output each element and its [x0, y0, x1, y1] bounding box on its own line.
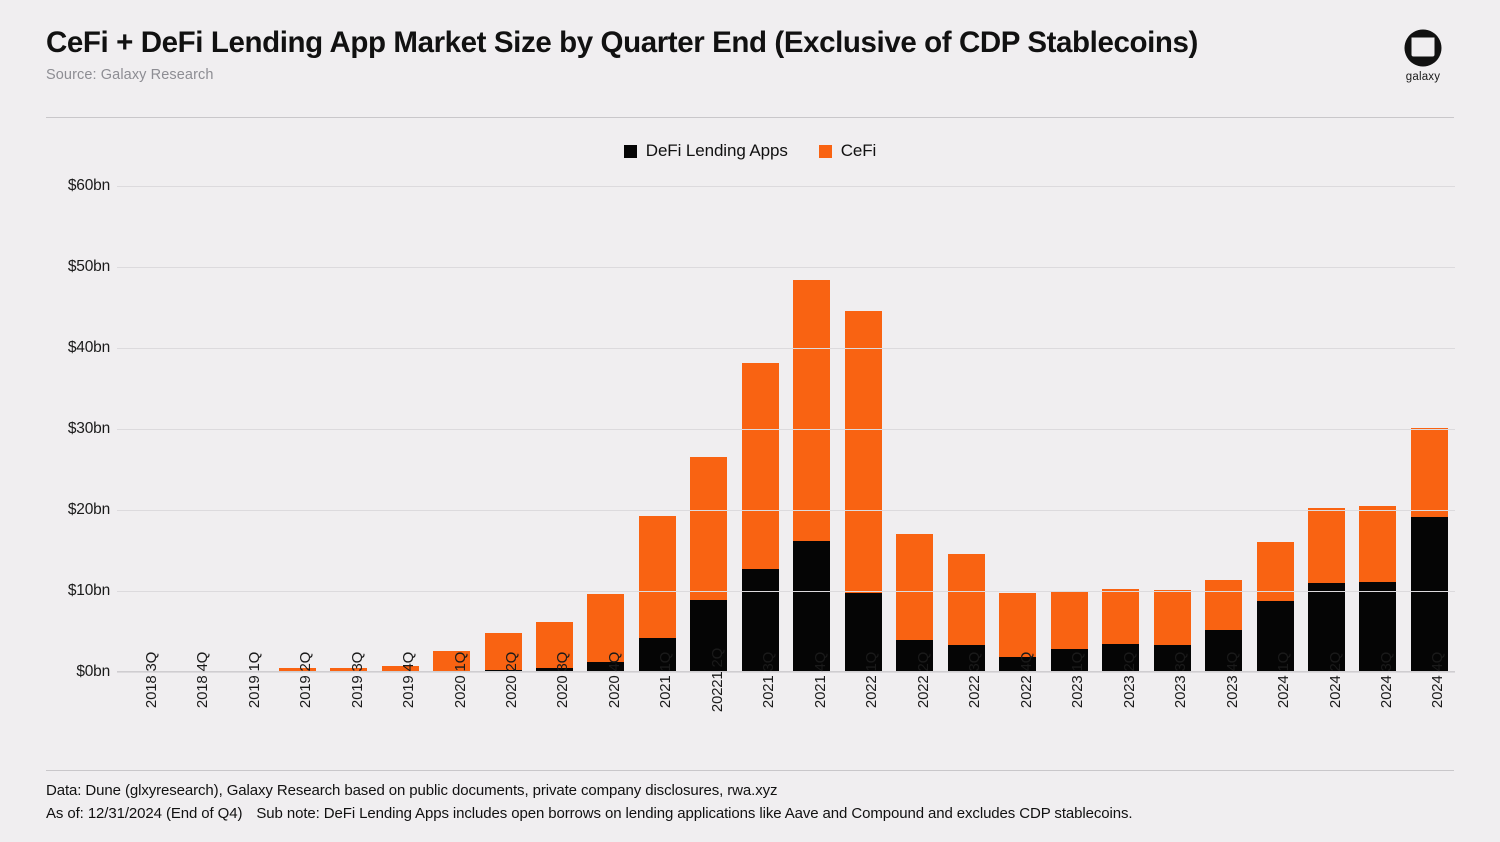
- x-tick-slot: 2023 4Q: [1198, 678, 1249, 766]
- bar-segment-cefi[interactable]: [1154, 590, 1191, 645]
- galaxy-logo-icon: [1403, 28, 1443, 68]
- stacked-bar[interactable]: [845, 311, 882, 672]
- legend-swatch-defi-icon: [624, 145, 637, 158]
- footnote-line-2: As of: 12/31/2024 (End of Q4)Sub note: D…: [46, 803, 1454, 826]
- y-axis: $0bn$10bn$20bn$30bn$40bn$50bn$60bn: [40, 186, 110, 672]
- x-tick-label: 2023 4Q: [1224, 652, 1241, 708]
- y-tick-label: $50bn: [68, 258, 110, 276]
- bar-segment-cefi[interactable]: [1359, 506, 1396, 582]
- axis-baseline: [117, 671, 1455, 672]
- x-axis: 2018 3Q2018 4Q2019 1Q2019 2Q2019 3Q2019 …: [117, 678, 1455, 766]
- x-tick-slot: 2024 1Q: [1249, 678, 1300, 766]
- gridline: [117, 186, 1455, 187]
- x-tick-label: 2018 3Q: [143, 652, 160, 708]
- bar-segment-cefi[interactable]: [1411, 428, 1448, 517]
- footnote-subnote: Sub note: DeFi Lending Apps includes ope…: [256, 805, 1132, 822]
- x-tick-slot: 2022 1Q: [838, 678, 889, 766]
- x-tick-label: 2019 1Q: [246, 652, 263, 708]
- x-tick-slot: 2019 4Q: [374, 678, 425, 766]
- x-tick-slot: 2022 2Q: [889, 678, 940, 766]
- chart-footnotes: Data: Dune (glxyresearch), Galaxy Resear…: [46, 780, 1454, 825]
- plot-area: [117, 186, 1455, 672]
- x-tick-label: 2022 2Q: [915, 652, 932, 708]
- x-tick-label: 2024 4Q: [1429, 652, 1446, 708]
- chart-header: CeFi + DeFi Lending App Market Size by Q…: [46, 26, 1454, 83]
- x-tick-label: 2023 2Q: [1121, 652, 1138, 708]
- footnote-line-1: Data: Dune (glxyresearch), Galaxy Resear…: [46, 780, 1454, 803]
- stacked-bar[interactable]: [742, 363, 779, 672]
- x-tick-slot: 2019 2Q: [271, 678, 322, 766]
- x-tick-label: 2021 3Q: [760, 652, 777, 708]
- stacked-bar[interactable]: [1308, 508, 1345, 672]
- gridline: [117, 672, 1455, 673]
- gridline: [117, 591, 1455, 592]
- source-caption: Source: Galaxy Research: [46, 67, 1454, 83]
- x-tick-slot: 2023 3Q: [1146, 678, 1197, 766]
- footer-divider: [46, 770, 1454, 771]
- x-tick-label: 2024 3Q: [1378, 652, 1395, 708]
- bar-segment-cefi[interactable]: [999, 593, 1036, 656]
- x-tick-slot: 2021 1Q: [632, 678, 683, 766]
- x-tick-label: 2024 1Q: [1275, 652, 1292, 708]
- x-tick-slot: 2024 3Q: [1352, 678, 1403, 766]
- x-tick-label: 2020 4Q: [606, 652, 623, 708]
- x-tick-label: 2018 4Q: [194, 652, 211, 708]
- galaxy-wordmark: galaxy: [1392, 71, 1454, 83]
- x-tick-slot: 2024 4Q: [1404, 678, 1455, 766]
- y-tick-label: $30bn: [68, 420, 110, 438]
- x-tick-slot: 2018 3Q: [117, 678, 168, 766]
- x-tick-slot: 2020 2Q: [477, 678, 528, 766]
- bar-segment-cefi[interactable]: [948, 554, 985, 646]
- y-tick-label: $60bn: [68, 177, 110, 195]
- y-tick-label: $20bn: [68, 501, 110, 519]
- galaxy-logo: galaxy: [1392, 28, 1454, 83]
- x-tick-slot: 2022 4Q: [992, 678, 1043, 766]
- x-tick-slot: 2021 4Q: [786, 678, 837, 766]
- x-tick-label: 2024 2Q: [1327, 652, 1344, 708]
- x-tick-slot: 2022 3Q: [941, 678, 992, 766]
- chart-legend: DeFi Lending Apps CeFi: [0, 141, 1500, 161]
- page-title: CeFi + DeFi Lending App Market Size by Q…: [46, 26, 1454, 60]
- x-tick-slot: 2020 4Q: [580, 678, 631, 766]
- bar-segment-cefi[interactable]: [742, 363, 779, 569]
- x-tick-label: 20221 2Q: [709, 648, 726, 712]
- x-tick-label: 2021 4Q: [812, 652, 829, 708]
- x-tick-label: 2019 4Q: [400, 652, 417, 708]
- y-tick-label: $0bn: [76, 663, 110, 681]
- x-tick-slot: 20221 2Q: [683, 678, 734, 766]
- bar-segment-cefi[interactable]: [793, 280, 830, 541]
- gridline: [117, 510, 1455, 511]
- bar-segment-cefi[interactable]: [896, 534, 933, 640]
- footnote-asof: As of: 12/31/2024 (End of Q4): [46, 805, 242, 822]
- legend-item-defi[interactable]: DeFi Lending Apps: [624, 141, 788, 161]
- bar-segment-cefi[interactable]: [1051, 592, 1088, 650]
- x-tick-label: 2023 3Q: [1172, 652, 1189, 708]
- stacked-bar[interactable]: [690, 457, 727, 672]
- x-tick-label: 2023 1Q: [1069, 652, 1086, 708]
- x-tick-slot: 2020 3Q: [529, 678, 580, 766]
- legend-swatch-cefi-icon: [819, 145, 832, 158]
- stacked-bar[interactable]: [1411, 428, 1448, 672]
- gridline: [117, 267, 1455, 268]
- x-tick-slot: 2023 2Q: [1095, 678, 1146, 766]
- x-tick-label: 2022 1Q: [863, 652, 880, 708]
- x-tick-label: 2020 3Q: [554, 652, 571, 708]
- bar-segment-cefi[interactable]: [1102, 589, 1139, 645]
- bar-segment-cefi[interactable]: [690, 457, 727, 600]
- x-tick-label: 2022 3Q: [966, 652, 983, 708]
- x-tick-label: 2019 3Q: [349, 652, 366, 708]
- legend-label-cefi: CeFi: [841, 141, 877, 161]
- x-tick-slot: 2020 1Q: [426, 678, 477, 766]
- x-tick-slot: 2024 2Q: [1301, 678, 1352, 766]
- x-tick-slot: 2019 1Q: [220, 678, 271, 766]
- legend-label-defi: DeFi Lending Apps: [646, 141, 788, 161]
- x-tick-label: 2020 1Q: [452, 652, 469, 708]
- stacked-bar[interactable]: [1359, 506, 1396, 672]
- legend-item-cefi[interactable]: CeFi: [819, 141, 877, 161]
- stacked-bar[interactable]: [639, 516, 676, 672]
- x-tick-slot: 2019 3Q: [323, 678, 374, 766]
- x-tick-slot: 2018 4Q: [168, 678, 219, 766]
- x-tick-label: 2022 4Q: [1018, 652, 1035, 708]
- gridline: [117, 429, 1455, 430]
- stacked-bar[interactable]: [793, 280, 830, 672]
- header-divider: [46, 117, 1454, 118]
- x-tick-label: 2020 2Q: [503, 652, 520, 708]
- bar-segment-cefi[interactable]: [1205, 580, 1242, 630]
- x-tick-label: 2021 1Q: [657, 652, 674, 708]
- x-tick-slot: 2021 3Q: [735, 678, 786, 766]
- chart-page: CeFi + DeFi Lending App Market Size by Q…: [0, 0, 1500, 842]
- bar-segment-defi[interactable]: [1411, 517, 1448, 672]
- bar-segment-cefi[interactable]: [1308, 508, 1345, 583]
- x-tick-slot: 2023 1Q: [1043, 678, 1094, 766]
- x-tick-label: 2019 2Q: [297, 652, 314, 708]
- bar-segment-cefi[interactable]: [639, 516, 676, 638]
- bar-segment-cefi[interactable]: [845, 311, 882, 593]
- y-tick-label: $40bn: [68, 339, 110, 357]
- gridline: [117, 348, 1455, 349]
- y-tick-label: $10bn: [68, 582, 110, 600]
